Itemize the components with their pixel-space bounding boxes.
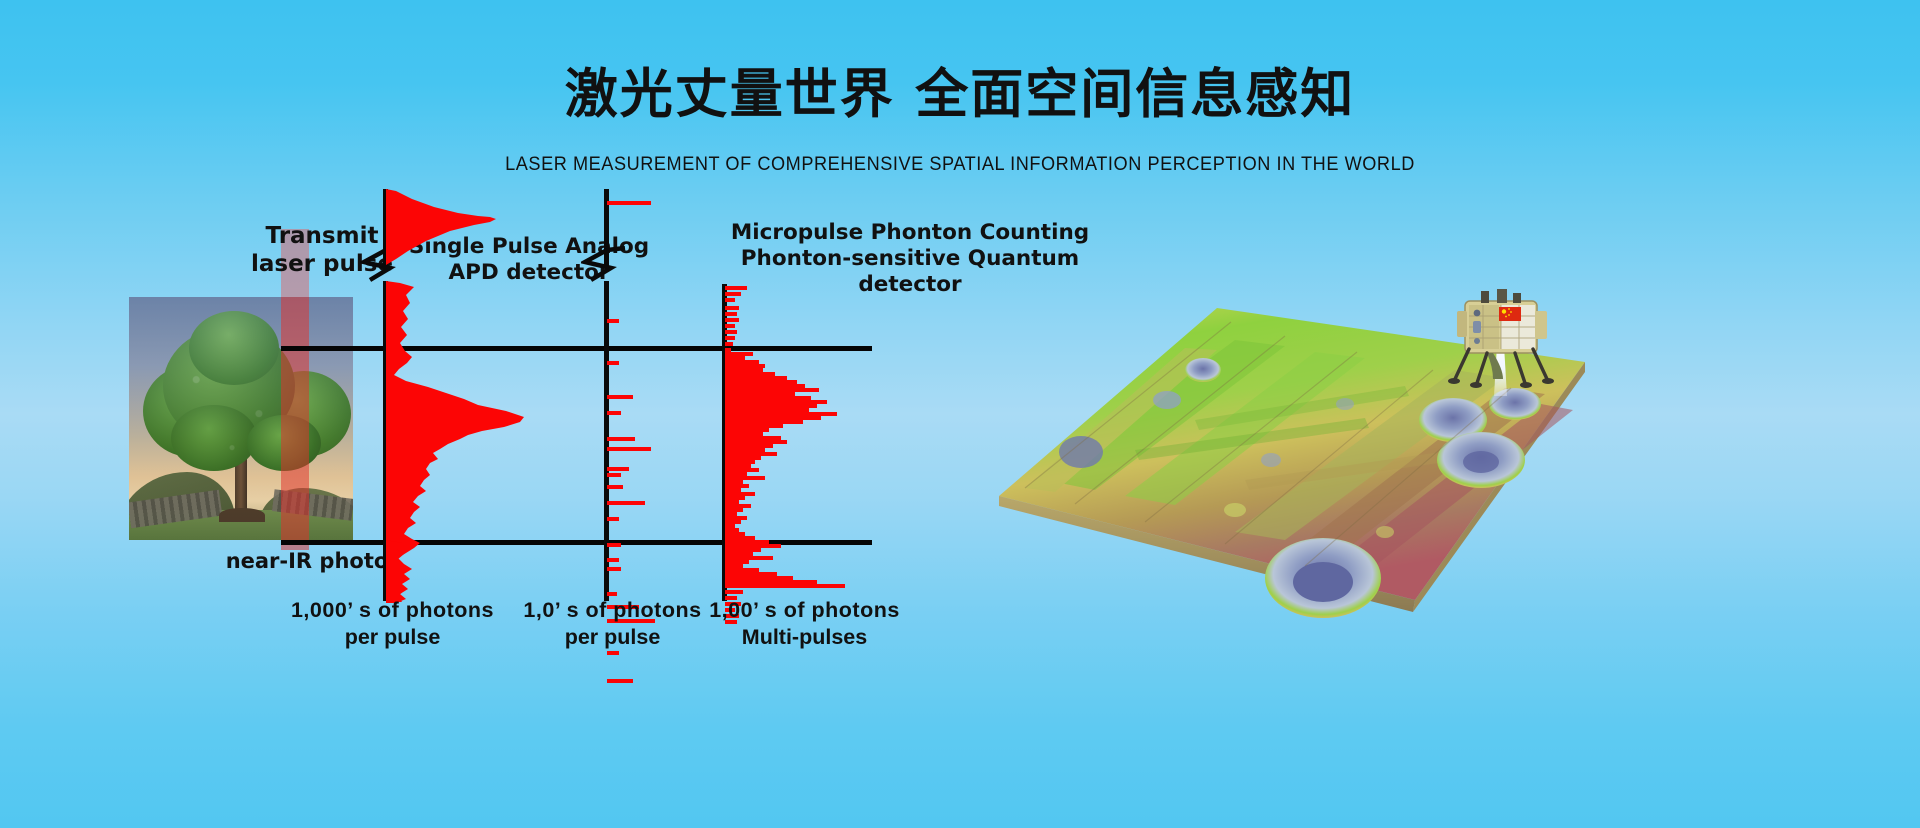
photon-bar [725, 590, 743, 594]
panel3-caption-line1: 1,00’ s of photons [697, 597, 912, 624]
flag-icon [1499, 307, 1521, 321]
photon-bar [607, 447, 651, 451]
panel1-caption-line2: per pulse [285, 624, 500, 651]
photon-bar [607, 592, 617, 596]
canopy-top-reference-line [281, 346, 872, 351]
photon-bar [725, 312, 737, 316]
photon-bar [607, 201, 651, 205]
micropulse-detector-label: Micropulse Phonton Counting Phonton-sens… [690, 220, 1130, 299]
panel1-transmit-pulse [386, 189, 506, 265]
photon-bar [607, 467, 629, 471]
panel2-caption-line2: per pulse [505, 624, 720, 651]
photon-bar [725, 330, 737, 334]
panel1-caption-line1: 1,000’ s of photons [285, 597, 500, 624]
micropulse-label-line1: Micropulse Phonton Counting [690, 220, 1130, 246]
lunar-lander [1443, 283, 1563, 391]
panel3-caption-line2: Multi-pulses [697, 624, 912, 651]
panel2-caption-line1: 1,0’ s of photons [505, 597, 720, 624]
photon-bar [607, 319, 619, 323]
photon-bar [725, 306, 739, 310]
photon-bar [725, 318, 739, 322]
photon-bar [725, 292, 741, 296]
photon-bar [607, 395, 633, 399]
page-subtitle: LASER MEASUREMENT OF COMPREHENSIVE SPATI… [67, 153, 1853, 176]
photon-bar [725, 342, 733, 346]
panel2-axis-lower [604, 281, 609, 601]
panel1-ground-return [386, 540, 446, 602]
photon-bar [607, 558, 619, 562]
photon-bar [725, 584, 845, 588]
photon-bar [725, 298, 735, 302]
ground-reference-line [281, 540, 872, 545]
near-ir-photo [129, 297, 353, 540]
panel3-caption: 1,00’ s of photons Multi-pulses [697, 597, 912, 651]
photon-bar [607, 501, 645, 505]
poster-stage: 激光丈量世界 全面空间信息感知 LASER MEASUREMENT OF COM… [0, 0, 1920, 828]
photon-bar [725, 286, 747, 290]
panel1-caption: 1,000’ s of photons per pulse [285, 597, 500, 651]
photon-bar [607, 485, 623, 489]
photon-bar [725, 336, 735, 340]
panel2-caption: 1,0’ s of photons per pulse [505, 597, 720, 651]
photon-bar [607, 679, 633, 683]
photon-bar [607, 411, 621, 415]
photon-bar [725, 324, 735, 328]
photon-bar [607, 361, 619, 365]
photo-color-tint [129, 297, 353, 540]
photon-bar [607, 543, 621, 547]
page-title: 激光丈量世界 全面空间信息感知 [0, 52, 1920, 128]
photon-bar [607, 651, 619, 655]
transmit-laser-beam-lower [281, 297, 309, 550]
photon-bar [607, 473, 621, 477]
photon-bar [607, 567, 621, 571]
panel2-axis-break-icon [581, 246, 627, 280]
photon-bar [607, 517, 619, 521]
photon-bar [607, 437, 635, 441]
micropulse-label-line2: Phonton-sensitive Quantum detector [690, 246, 1130, 298]
